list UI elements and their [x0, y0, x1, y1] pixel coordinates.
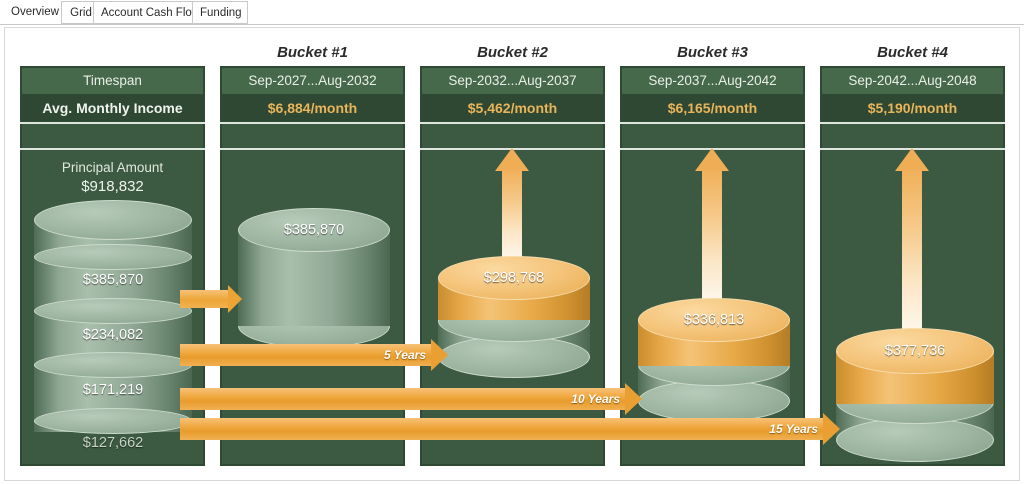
bucket-1-timespan: Sep-2027...Aug-2032 — [222, 68, 403, 94]
stack-segment-value-3: $171,219 — [34, 382, 192, 398]
tab-strip: Overview Grid Account Cash Flow Funding — [0, 0, 1024, 25]
bucket-2-cylinder: $298,768 — [438, 256, 590, 378]
bucket-1-income: $6,884/month — [222, 95, 403, 121]
bucket-title-4: Bucket #4 — [820, 43, 1005, 63]
stack-segment-value-1: $385,870 — [34, 272, 192, 288]
stack-rim-3 — [34, 352, 192, 378]
stack-segment-value-2: $234,082 — [34, 327, 192, 343]
flow-arrow-10-years: 10 Years — [180, 388, 642, 410]
stack-top-face — [34, 200, 192, 240]
stack-segment-value-4: $127,662 — [34, 435, 192, 451]
bucket-column-3[interactable]: Sep-2037...Aug-2042 $6,165/month $336,81… — [620, 66, 805, 466]
tab-funding[interactable]: Funding — [192, 1, 248, 24]
bucket-4-timespan: Sep-2042...Aug-2048 — [822, 68, 1003, 94]
stack-rim-1 — [34, 244, 192, 270]
bucket-3-cylinder: $336,813 — [638, 298, 790, 422]
bucket-title-3: Bucket #3 — [620, 43, 805, 63]
bucket-4-cylinder: $377,736 — [836, 328, 994, 462]
bucket-title-1: Bucket #1 — [220, 43, 405, 63]
tab-overview[interactable]: Overview — [4, 1, 60, 24]
blank-row-principal — [22, 124, 203, 148]
avg-monthly-income-header: Avg. Monthly Income — [22, 95, 203, 121]
bucket-4-amount: $377,736 — [836, 343, 994, 359]
bucket-4-income: $5,190/month — [822, 95, 1003, 121]
bucket-3-amount: $336,813 — [638, 312, 790, 328]
blank-row-bucket-2 — [422, 124, 603, 148]
principal-amount-value: $918,832 — [20, 177, 205, 197]
overview-screen: Overview Grid Account Cash Flow Funding … — [0, 0, 1024, 485]
stack-rim-2 — [34, 298, 192, 324]
flow-arrow-5-years-label: 5 Years — [384, 344, 426, 366]
bucket-2-amount: $298,768 — [438, 270, 590, 286]
principal-column: Timespan Avg. Monthly Income Principal A… — [20, 66, 205, 466]
flow-arrow-15-years-label: 15 Years — [769, 418, 818, 440]
blank-row-bucket-1 — [222, 124, 403, 148]
bucket-4-growth-arrow — [895, 148, 929, 330]
principal-amount-label: Principal Amount — [20, 158, 205, 177]
flow-arrow-15-years: 15 Years — [180, 418, 840, 440]
bucket-2-base-bottom — [438, 336, 590, 378]
blank-row-bucket-3 — [622, 124, 803, 148]
bucket-1-amount: $385,870 — [238, 222, 390, 238]
bucket-title-2: Bucket #2 — [420, 43, 605, 63]
bucket-3-base-bottom — [638, 380, 790, 422]
bucket-2-income: $5,462/month — [422, 95, 603, 121]
bucket-3-income: $6,165/month — [622, 95, 803, 121]
flow-arrow-5-years: 5 Years — [180, 344, 448, 366]
bucket-column-4[interactable]: Sep-2042...Aug-2048 $5,190/month $377,73… — [820, 66, 1005, 466]
stack-rim-4 — [34, 408, 192, 434]
flow-arrow-10-years-label: 10 Years — [571, 388, 620, 410]
bucket-2-growth-arrow — [495, 148, 529, 258]
bucket-3-timespan: Sep-2037...Aug-2042 — [622, 68, 803, 94]
principal-to-bucket1-arrow — [180, 290, 242, 308]
bucket-3-growth-arrow — [695, 148, 729, 300]
bucket-2-timespan: Sep-2032...Aug-2037 — [422, 68, 603, 94]
principal-stack-cylinder: $385,870 $234,082 $171,219 $127,662 — [34, 200, 192, 466]
bucket-1-cylinder: $385,870 — [238, 208, 390, 348]
blank-row-bucket-4 — [822, 124, 1003, 148]
timespan-header: Timespan — [22, 68, 203, 94]
bucket-4-base-bottom — [836, 418, 994, 462]
tab-account-cash-flow[interactable]: Account Cash Flow — [93, 1, 193, 24]
